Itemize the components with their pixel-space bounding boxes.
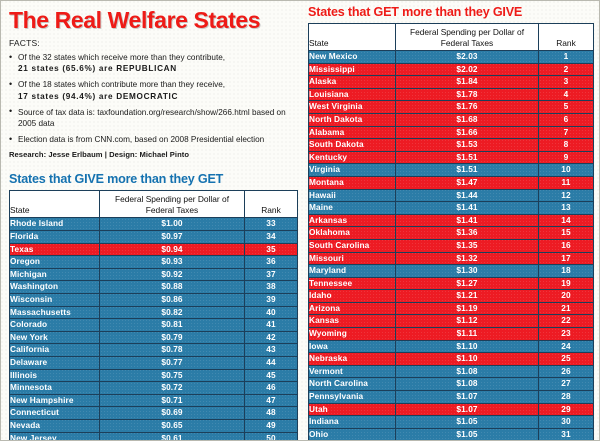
cell-state: Hawaii [309,189,396,202]
cell-state: Michigan [10,268,100,281]
cell-state: Montana [309,176,396,189]
table-row: North Dakota$1.686 [309,113,594,126]
table-row: New Hampshire$0.7147 [10,394,298,407]
cell-spending-value: $0.82 [100,306,245,319]
cell-spending-value: $0.71 [100,394,245,407]
cell-rank: 41 [245,319,298,332]
table-row: Wyoming$1.1123 [309,328,594,341]
table-row: California$0.7843 [10,344,298,357]
cell-rank: 12 [539,189,594,202]
cell-state: New Hampshire [10,394,100,407]
cell-state: Delaware [10,356,100,369]
cell-rank: 18 [539,265,594,278]
get-col-rank: Rank [539,24,594,51]
cell-rank: 49 [245,419,298,432]
cell-spending-value: $0.86 [100,293,245,306]
table-row: Oklahoma$1.3615 [309,227,594,240]
cell-state: Indiana [309,416,396,429]
facts-label: FACTS: [9,38,297,48]
table-row: New York$0.7942 [10,331,298,344]
cell-rank: 17 [539,252,594,265]
cell-rank: 48 [245,407,298,420]
cell-spending-value: $1.35 [396,239,539,252]
cell-rank: 31 [539,428,594,441]
cell-rank: 30 [539,416,594,429]
cell-spending-value: $1.32 [396,252,539,265]
cell-state: South Dakota [309,139,396,152]
cell-spending-value: $1.12 [396,315,539,328]
cell-spending-value: $1.78 [396,88,539,101]
cell-spending-value: $1.00 [100,218,245,231]
table-row: Montana$1.4711 [309,176,594,189]
table-row: Maryland$1.3018 [309,265,594,278]
cell-state: Nevada [10,419,100,432]
get-col-metric-line1: Federal Spending per Dollar of [396,27,538,38]
credits: Research: Jesse Erlbaum | Design: Michae… [9,150,297,159]
cell-state: Tennessee [309,277,396,290]
infographic-poster: The Real Welfare States FACTS: Of the 32… [0,0,600,441]
table-row: South Carolina$1.3516 [309,239,594,252]
page-title: The Real Welfare States [9,7,297,33]
cell-rank: 2 [539,63,594,76]
cell-rank: 3 [539,76,594,89]
cell-state: Maryland [309,265,396,278]
cell-rank: 1 [539,51,594,64]
cell-state: North Dakota [309,113,396,126]
cell-state: Alaska [309,76,396,89]
cell-rank: 44 [245,356,298,369]
cell-state: Rhode Island [10,218,100,231]
cell-rank: 33 [245,218,298,231]
cell-spending-value: $1.08 [396,378,539,391]
cell-rank: 37 [245,268,298,281]
cell-state: Nebraska [309,353,396,366]
cell-spending-value: $1.30 [396,265,539,278]
cell-spending-value: $1.36 [396,227,539,240]
cell-state: Arkansas [309,214,396,227]
cell-rank: 6 [539,113,594,126]
table-row: Delaware$0.7744 [10,356,298,369]
cell-rank: 29 [539,403,594,416]
cell-rank: 38 [245,281,298,294]
right-column: States that GET more than they GIVE Stat… [308,5,593,441]
table-row: Massachusetts$0.8240 [10,306,298,319]
cell-spending-value: $1.08 [396,365,539,378]
give-table-body: Rhode Island$1.0033Florida$0.9734Texas$0… [10,218,298,441]
table-row: Missouri$1.3217 [309,252,594,265]
table-row: Kentucky$1.519 [309,151,594,164]
cell-spending-value: $1.21 [396,290,539,303]
cell-rank: 50 [245,432,298,441]
cell-state: Texas [10,243,100,256]
cell-spending-value: $0.61 [100,432,245,441]
give-table-header-row: State Federal Spending per Dollar of Fed… [10,191,298,218]
give-col-metric-line1: Federal Spending per Dollar of [100,194,244,205]
cell-rank: 43 [245,344,298,357]
cell-rank: 19 [539,277,594,290]
cell-rank: 14 [539,214,594,227]
cell-spending-value: $1.51 [396,151,539,164]
cell-spending-value: $0.75 [100,369,245,382]
cell-spending-value: $1.07 [396,391,539,404]
cell-rank: 21 [539,302,594,315]
left-column: The Real Welfare States FACTS: Of the 32… [9,7,297,441]
cell-state: Florida [10,231,100,244]
cell-state: New York [10,331,100,344]
cell-spending-value: $1.27 [396,277,539,290]
get-col-metric: Federal Spending per Dollar of Federal T… [396,24,539,51]
cell-state: Mississippi [309,63,396,76]
table-row: North Carolina$1.0827 [309,378,594,391]
cell-state: Louisiana [309,88,396,101]
give-col-metric-line2: Federal Taxes [100,205,244,216]
cell-state: Connecticut [10,407,100,420]
cell-state: California [10,344,100,357]
give-table-head: State Federal Spending per Dollar of Fed… [10,191,298,218]
cell-spending-value: $0.81 [100,319,245,332]
table-row: Louisiana$1.784 [309,88,594,101]
cell-rank: 25 [539,353,594,366]
fact-text: Of the 32 states which receive more than… [18,53,225,62]
fact-text: Of the 18 states which contribute more t… [18,80,225,89]
table-row: Colorado$0.8141 [10,319,298,332]
table-row: Alabama$1.667 [309,126,594,139]
cell-state: Idaho [309,290,396,303]
cell-spending-value: $0.65 [100,419,245,432]
get-col-metric-line2: Federal Taxes [396,38,538,49]
table-row: Minnesota$0.7246 [10,382,298,395]
table-row: Ohio$1.0531 [309,428,594,441]
table-row: Iowa$1.1024 [309,340,594,353]
cell-state: Massachusetts [10,306,100,319]
cell-state: Minnesota [10,382,100,395]
table-row: Maine$1.4113 [309,202,594,215]
table-row: Rhode Island$1.0033 [10,218,298,231]
cell-rank: 47 [245,394,298,407]
table-row: New Mexico$2.031 [309,51,594,64]
cell-rank: 22 [539,315,594,328]
cell-state: Virginia [309,164,396,177]
cell-state: Alabama [309,126,396,139]
cell-state: South Carolina [309,239,396,252]
cell-spending-value: $1.05 [396,416,539,429]
table-row: West Virginia$1.765 [309,101,594,114]
table-row: Wisconsin$0.8639 [10,293,298,306]
cell-rank: 42 [245,331,298,344]
table-row: Illinois$0.7545 [10,369,298,382]
give-col-state: State [10,191,100,218]
table-row: Arkansas$1.4114 [309,214,594,227]
cell-rank: 34 [245,231,298,244]
cell-rank: 15 [539,227,594,240]
cell-spending-value: $0.77 [100,356,245,369]
fact-item: Of the 32 states which receive more than… [9,52,297,74]
cell-rank: 35 [245,243,298,256]
fact-highlight: 21 states (65.6%) are REPUBLICAN [18,63,297,74]
cell-state: Kansas [309,315,396,328]
cell-spending-value: $1.05 [396,428,539,441]
table-row: Alaska$1.843 [309,76,594,89]
cell-rank: 24 [539,340,594,353]
table-row: Mississippi$2.022 [309,63,594,76]
table-row: Tennessee$1.2719 [309,277,594,290]
give-col-metric: Federal Spending per Dollar of Federal T… [100,191,245,218]
fact-highlight: 17 states (94.4%) are DEMOCRATIC [18,91,297,102]
cell-rank: 8 [539,139,594,152]
cell-state: Washington [10,281,100,294]
cell-state: Missouri [309,252,396,265]
table-row: Oregon$0.9336 [10,256,298,269]
cell-state: Colorado [10,319,100,332]
cell-rank: 16 [539,239,594,252]
table-row: Nebraska$1.1025 [309,353,594,366]
cell-spending-value: $0.94 [100,243,245,256]
cell-spending-value: $1.19 [396,302,539,315]
cell-spending-value: $2.03 [396,51,539,64]
cell-rank: 36 [245,256,298,269]
cell-spending-value: $0.79 [100,331,245,344]
fact-item: Of the 18 states which contribute more t… [9,79,297,101]
cell-rank: 10 [539,164,594,177]
cell-spending-value: $1.07 [396,403,539,416]
cell-spending-value: $1.41 [396,202,539,215]
facts-list: Of the 32 states which receive more than… [9,52,297,145]
cell-state: Ohio [309,428,396,441]
cell-spending-value: $0.69 [100,407,245,420]
cell-spending-value: $1.53 [396,139,539,152]
cell-state: Illinois [10,369,100,382]
cell-spending-value: $1.51 [396,164,539,177]
table-row: Texas$0.9435 [10,243,298,256]
cell-spending-value: $0.72 [100,382,245,395]
cell-rank: 27 [539,378,594,391]
cell-state: Utah [309,403,396,416]
cell-state: Wisconsin [10,293,100,306]
cell-state: Wyoming [309,328,396,341]
source-text: Source of tax data is: taxfoundation.org… [18,108,250,117]
get-table-header-row: State Federal Spending per Dollar of Fed… [309,24,594,51]
cell-spending-value: $1.44 [396,189,539,202]
cell-rank: 9 [539,151,594,164]
table-row: Vermont$1.0826 [309,365,594,378]
get-table-body: New Mexico$2.031Mississippi$2.022Alaska$… [309,51,594,441]
cell-spending-value: $2.02 [396,63,539,76]
cell-state: Kentucky [309,151,396,164]
table-row: Utah$1.0729 [309,403,594,416]
cell-spending-value: $0.78 [100,344,245,357]
cell-state: New Jersey [10,432,100,441]
table-row: Washington$0.8838 [10,281,298,294]
election-source-text: Election data is from CNN.com, based on … [18,135,264,144]
table-row: New Jersey$0.6150 [10,432,298,441]
cell-rank: 4 [539,88,594,101]
table-row: Pennsylvania$1.0728 [309,391,594,404]
table-row: Connecticut$0.6948 [10,407,298,420]
cell-rank: 39 [245,293,298,306]
cell-spending-value: $1.47 [396,176,539,189]
fact-item-election-source: Election data is from CNN.com, based on … [9,134,297,145]
cell-state: Pennsylvania [309,391,396,404]
cell-rank: 23 [539,328,594,341]
cell-rank: 20 [539,290,594,303]
table-row: Arizona$1.1921 [309,302,594,315]
cell-spending-value: $0.97 [100,231,245,244]
cell-spending-value: $1.66 [396,126,539,139]
cell-state: New Mexico [309,51,396,64]
cell-rank: 11 [539,176,594,189]
give-table: State Federal Spending per Dollar of Fed… [9,190,298,441]
cell-rank: 26 [539,365,594,378]
cell-rank: 5 [539,101,594,114]
table-row: Florida$0.9734 [10,231,298,244]
get-table-heading: States that GET more than they GIVE [308,5,593,19]
cell-rank: 13 [539,202,594,215]
cell-state: Oklahoma [309,227,396,240]
cell-rank: 7 [539,126,594,139]
cell-state: Arizona [309,302,396,315]
cell-spending-value: $0.92 [100,268,245,281]
fact-item-source: Source of tax data is: taxfoundation.org… [9,107,297,129]
cell-spending-value: $1.76 [396,101,539,114]
get-table: State Federal Spending per Dollar of Fed… [308,23,594,441]
cell-spending-value: $1.11 [396,328,539,341]
cell-spending-value: $1.41 [396,214,539,227]
cell-state: Maine [309,202,396,215]
cell-spending-value: $1.68 [396,113,539,126]
cell-state: West Virginia [309,101,396,114]
table-row: Nevada$0.6549 [10,419,298,432]
give-col-rank: Rank [245,191,298,218]
table-row: South Dakota$1.538 [309,139,594,152]
cell-rank: 28 [539,391,594,404]
cell-state: Iowa [309,340,396,353]
cell-spending-value: $0.88 [100,281,245,294]
cell-spending-value: $0.93 [100,256,245,269]
table-row: Idaho$1.2120 [309,290,594,303]
table-row: Hawaii$1.4412 [309,189,594,202]
get-table-head: State Federal Spending per Dollar of Fed… [309,24,594,51]
table-row: Michigan$0.9237 [10,268,298,281]
cell-spending-value: $1.84 [396,76,539,89]
cell-spending-value: $1.10 [396,340,539,353]
table-row: Virginia$1.5110 [309,164,594,177]
get-col-state: State [309,24,396,51]
cell-state: Vermont [309,365,396,378]
cell-spending-value: $1.10 [396,353,539,366]
cell-state: North Carolina [309,378,396,391]
cell-rank: 45 [245,369,298,382]
cell-state: Oregon [10,256,100,269]
cell-rank: 40 [245,306,298,319]
table-row: Indiana$1.0530 [309,416,594,429]
give-table-heading: States that GIVE more than they GET [9,172,297,186]
table-row: Kansas$1.1222 [309,315,594,328]
cell-rank: 46 [245,382,298,395]
